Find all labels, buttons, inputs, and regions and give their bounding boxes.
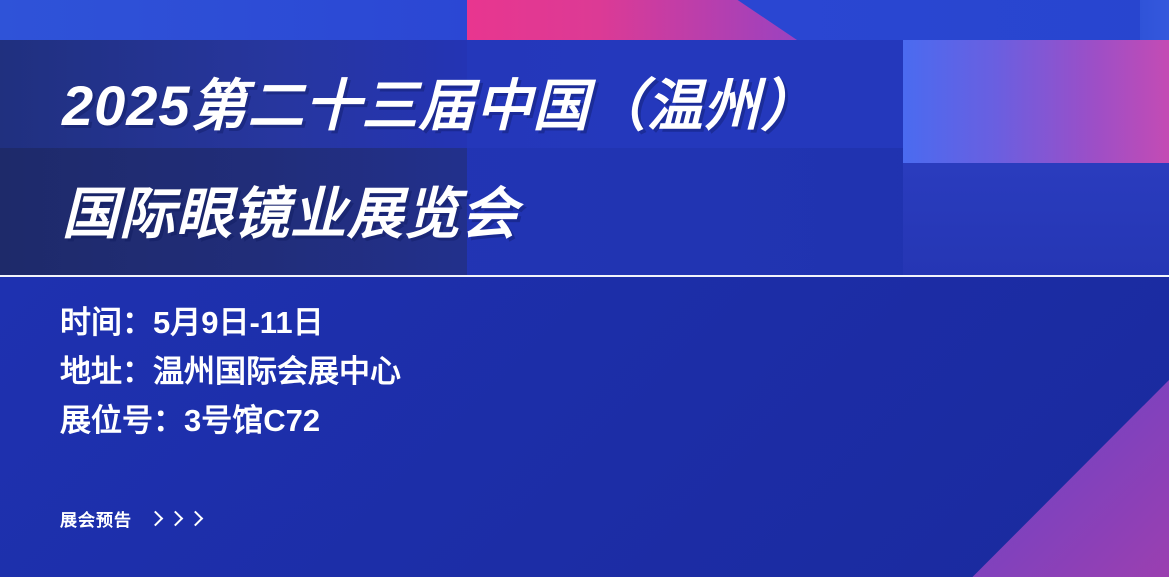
horizontal-divider xyxy=(0,275,1169,277)
title-line-1: 2025第二十三届中国（温州） xyxy=(62,52,922,160)
info-line-date: 时间：5月9日-11日 xyxy=(60,298,401,347)
info-line-address: 地址：温州国际会展中心 xyxy=(60,347,401,396)
chevron-right-icon-group xyxy=(150,513,201,524)
chevron-right-icon xyxy=(188,511,204,527)
event-info-block: 时间：5月9日-11日 地址：温州国际会展中心 展位号：3号馆C72 xyxy=(60,298,401,445)
chevron-right-icon xyxy=(168,511,184,527)
chevron-right-icon xyxy=(148,511,164,527)
decorative-top-right-edge xyxy=(1140,0,1169,40)
preview-link[interactable]: 展会预告 xyxy=(60,506,201,531)
banner-title: 2025第二十三届中国（温州） 国际眼镜业展览会 xyxy=(62,52,922,268)
background-panel-right xyxy=(903,163,1169,275)
exhibition-promo-banner: 2025第二十三届中国（温州） 国际眼镜业展览会 时间：5月9日-11日 地址：… xyxy=(0,0,1169,577)
preview-link-label: 展会预告 xyxy=(60,506,132,531)
title-line-2: 国际眼镜业展览会 xyxy=(62,160,922,268)
info-line-booth: 展位号：3号馆C72 xyxy=(60,396,401,445)
decorative-blue-purple-gradient-bar xyxy=(903,40,1169,163)
